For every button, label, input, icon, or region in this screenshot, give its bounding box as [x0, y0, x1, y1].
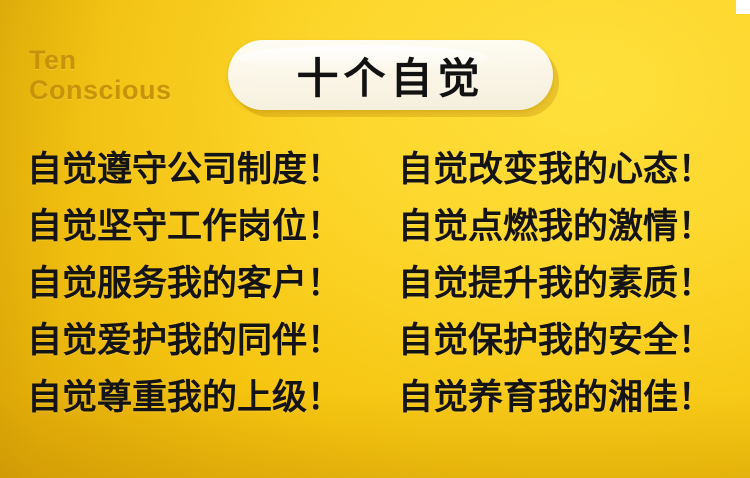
slogan-right: 自觉点燃我的激情！: [382, 198, 750, 249]
slogan-left: 自觉坚守工作岗位！: [0, 198, 382, 249]
slogan-right: 自觉提升我的素质！: [382, 255, 750, 306]
slogan-row: 自觉坚守工作岗位！ 自觉点燃我的激情！: [0, 195, 750, 252]
eyebrow-text: Ten Conscious: [29, 45, 172, 105]
slogan-row: 自觉尊重我的上级！ 自觉养育我的湘佳！: [0, 366, 750, 423]
slogan-row: 自觉爱护我的同伴！ 自觉保护我的安全！: [0, 309, 750, 366]
eyebrow-line-1: Ten: [29, 45, 77, 75]
slogan-right: 自觉改变我的心态！: [382, 141, 750, 192]
slogan-row: 自觉遵守公司制度！ 自觉改变我的心态！: [0, 138, 750, 195]
slogan-left: 自觉爱护我的同伴！: [0, 312, 382, 363]
poster-header: Ten Conscious 十个自觉: [0, 0, 750, 136]
poster-canvas: Ten Conscious 十个自觉 自觉遵守公司制度！ 自觉改变我的心态！ 自…: [0, 0, 750, 478]
title-pill: 十个自觉: [228, 40, 553, 110]
slogan-row: 自觉服务我的客户！ 自觉提升我的素质！: [0, 252, 750, 309]
slogan-left: 自觉尊重我的上级！: [0, 369, 382, 420]
eyebrow-line-2: Conscious: [29, 75, 172, 105]
corner-notch: [736, 0, 750, 14]
page-title: 十个自觉: [296, 45, 484, 106]
slogan-left: 自觉服务我的客户！: [0, 255, 382, 306]
slogan-grid: 自觉遵守公司制度！ 自觉改变我的心态！ 自觉坚守工作岗位！ 自觉点燃我的激情！ …: [0, 138, 750, 423]
slogan-left: 自觉遵守公司制度！: [0, 141, 382, 192]
slogan-right: 自觉养育我的湘佳！: [382, 369, 750, 420]
slogan-right: 自觉保护我的安全！: [382, 312, 750, 363]
